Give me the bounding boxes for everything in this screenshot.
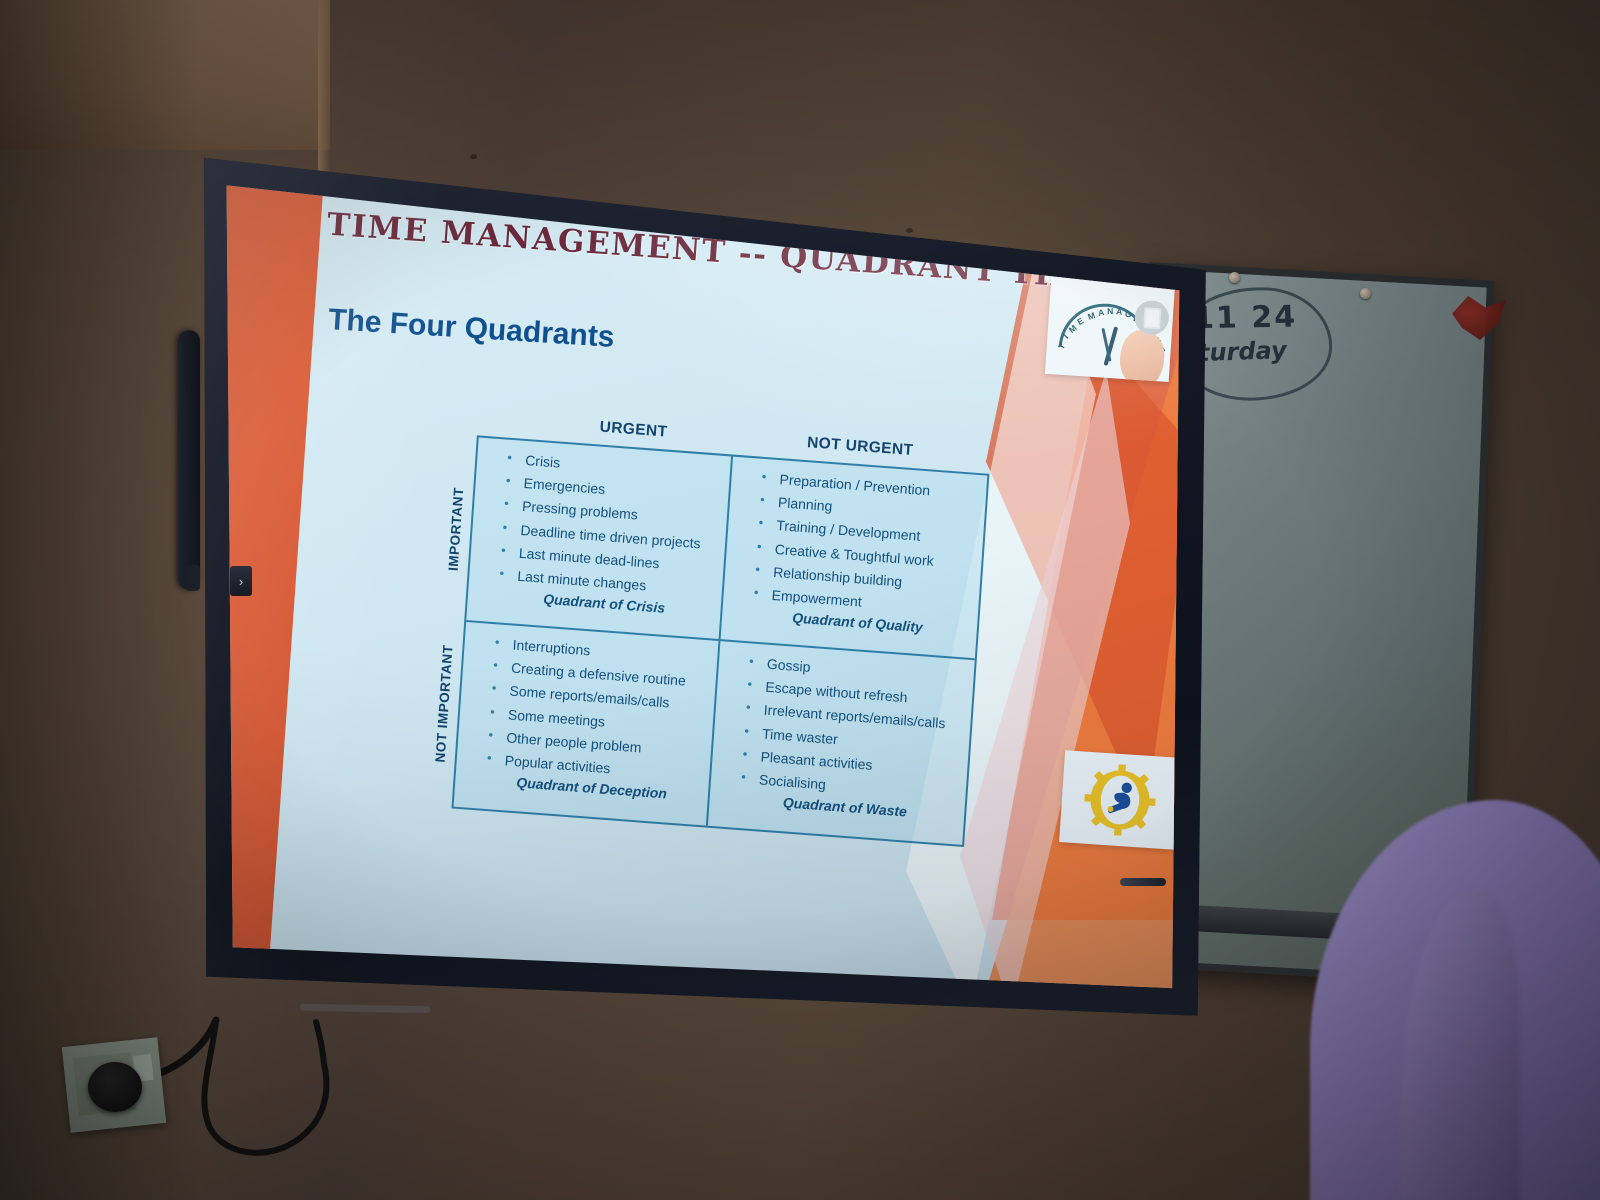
room-scene: 11 24 aturday TIME MANAGEMENT -- QUADRAN… — [0, 0, 1600, 1200]
scene-vignette — [0, 0, 1600, 1200]
